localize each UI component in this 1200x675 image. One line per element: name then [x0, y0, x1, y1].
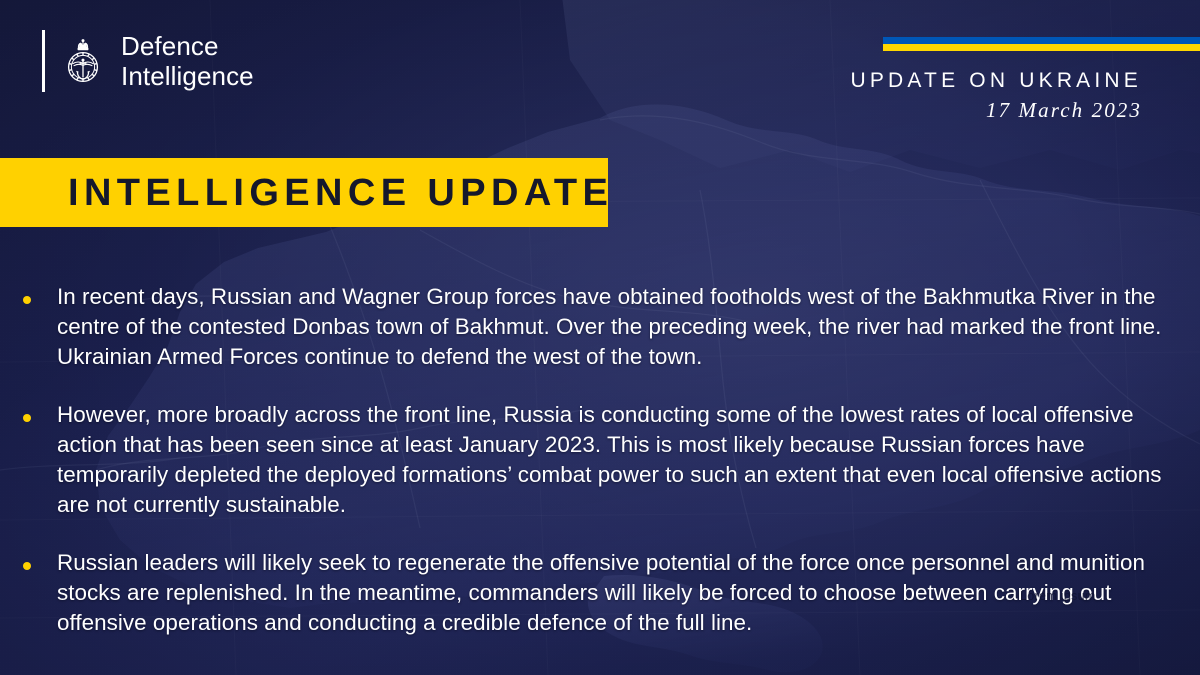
slide-canvas: Defence Intelligence UPDATE ON UKRAINE 1…: [0, 0, 1200, 675]
banner-label: INTELLIGENCE UPDATE: [68, 171, 613, 215]
logo-line-2: Intelligence: [121, 61, 254, 91]
bullet-dot-icon: [23, 414, 31, 422]
logo-wordmark: Defence Intelligence: [121, 31, 254, 91]
publication-date: 17 March 2023: [850, 96, 1142, 124]
intelligence-update-banner: INTELLIGENCE UPDATE: [0, 158, 608, 227]
bullet-text: In recent days, Russian and Wagner Group…: [57, 282, 1174, 372]
flag-stripe-yellow: [883, 44, 1200, 51]
defence-intelligence-logo: Defence Intelligence: [42, 30, 254, 92]
ukraine-flag-bar-icon: [883, 37, 1200, 51]
bullet-dot-icon: [23, 562, 31, 570]
bullet-list: In recent days, Russian and Wagner Group…: [0, 282, 1200, 666]
bullet-dot-icon: [23, 296, 31, 304]
bullet-text: Russian leaders will likely seek to rege…: [57, 548, 1174, 638]
bullet-text: However, more broadly across the front l…: [57, 400, 1174, 520]
footer-watermark: Lorem ipsum: [1020, 589, 1096, 604]
logo-divider-rule: [42, 30, 45, 92]
flag-stripe-blue: [883, 37, 1200, 44]
list-item: However, more broadly across the front l…: [0, 400, 1200, 520]
page-title: UPDATE ON UKRAINE: [850, 68, 1142, 94]
header-title-block: UPDATE ON UKRAINE 17 March 2023: [850, 68, 1142, 124]
logo-line-1: Defence: [121, 31, 254, 61]
list-item: In recent days, Russian and Wagner Group…: [0, 282, 1200, 372]
defence-intelligence-crest-icon: [61, 32, 107, 90]
